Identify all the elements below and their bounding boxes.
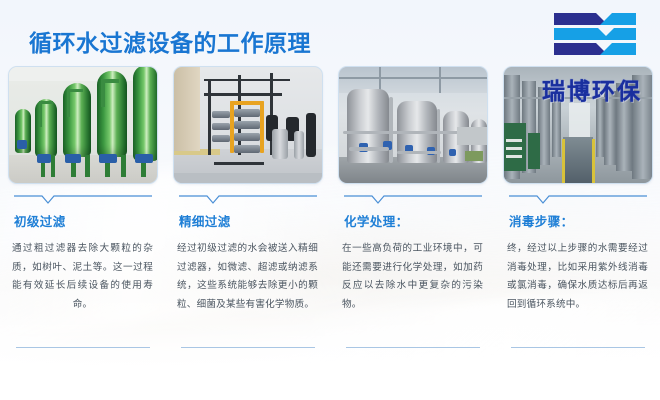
card-bottom-rules [0, 347, 660, 349]
process-card-3-title: 化学处理： [344, 211, 487, 230]
chevron-down-divider-icon [173, 193, 323, 205]
process-card-3-image [338, 66, 488, 184]
chevron-down-divider-icon [8, 193, 158, 205]
brand-wordmark: 瑞博环保 [542, 72, 642, 106]
process-card-2-body: 经过初级过滤的水会被送入精细过滤器，如微滤、超滤或纳滤系统，这些系统能够去除更小… [177, 240, 318, 315]
ruibo-chevron-bars-logo-icon [552, 11, 638, 57]
process-card-3-body: 在一些高负荷的工业环境中，可能还需要进行化学处理，如加药反应以去除水中更复杂的污… [342, 240, 483, 315]
chevron-down-divider-icon [503, 193, 653, 205]
process-card-2-image [173, 66, 323, 184]
card-rule-1 [0, 347, 165, 349]
process-card-2-title: 精细过滤 [179, 211, 322, 230]
process-card-3: 化学处理： 在一些高负荷的工业环境中，可能还需要进行化学处理，如加药反应以去除水… [330, 66, 495, 366]
card-rule-3 [330, 347, 495, 349]
card-rule-4 [495, 347, 660, 349]
process-card-1-title: 初级过滤 [14, 211, 157, 230]
process-card-1-image [8, 66, 158, 184]
process-card-4: 消毒步骤： 终，经过以上步骤的水需要经过消毒处理，比如采用紫外线消毒或氯消毒，确… [495, 66, 660, 366]
process-steps-row: 初级过滤 通过粗过滤器去除大颗粒的杂质，如树叶、泥土等。这一过程能有效延长后续设… [0, 66, 660, 366]
process-card-2: 精细过滤 经过初级过滤的水会被送入精细过滤器，如微滤、超滤或纳滤系统，这些系统能… [165, 66, 330, 366]
chevron-down-divider-icon [338, 193, 488, 205]
process-card-4-title: 消毒步骤： [509, 211, 652, 230]
process-card-1: 初级过滤 通过粗过滤器去除大颗粒的杂质，如树叶、泥土等。这一过程能有效延长后续设… [0, 66, 165, 366]
process-card-4-body: 终，经过以上步骤的水需要经过消毒处理，比如采用紫外线消毒或氯消毒，确保水质达标后… [507, 240, 648, 315]
process-card-1-body: 通过粗过滤器去除大颗粒的杂质，如树叶、泥土等。这一过程能有效延长后续设备的使用寿… [12, 240, 153, 315]
page-title: 循环水过滤设备的工作原理 [29, 24, 311, 58]
card-rule-2 [165, 347, 330, 349]
